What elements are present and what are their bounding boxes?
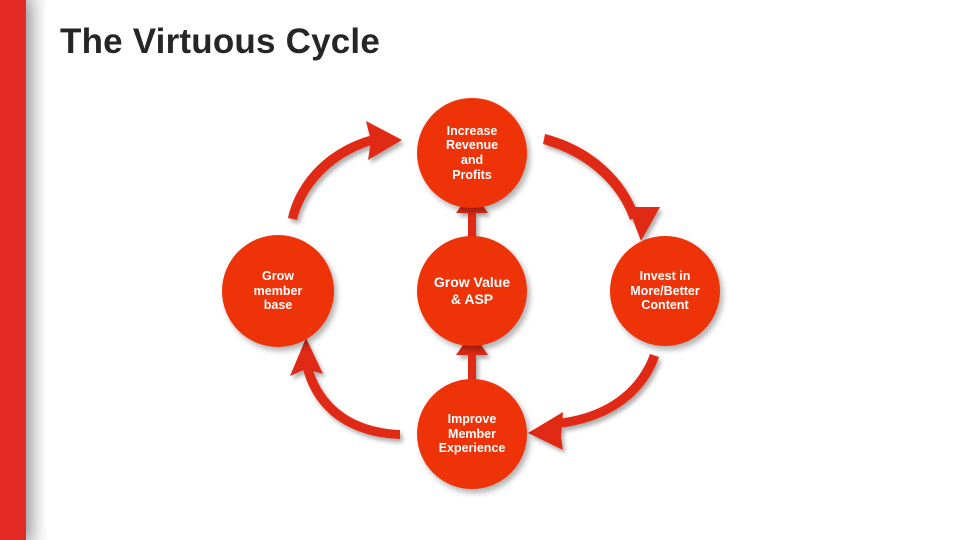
arrow-grow-member-base-to-increase-revenue xyxy=(288,121,402,220)
page-title: The Virtuous Cycle xyxy=(60,22,380,62)
left-accent-bar xyxy=(0,0,26,540)
node-improve-experience-label: Improve Member Experience xyxy=(433,412,512,456)
node-grow-value[interactable]: Grow Value & ASP xyxy=(417,236,527,346)
slide-canvas: The Virtuous Cycle xyxy=(0,0,960,540)
node-invest-content[interactable]: Invest in More/Better Content xyxy=(610,236,720,346)
node-invest-content-label: Invest in More/Better Content xyxy=(624,269,705,313)
node-grow-member-base-label: Grow member base xyxy=(248,269,309,313)
node-increase-revenue[interactable]: Increase Revenue and Profits xyxy=(417,98,527,208)
node-grow-value-label: Grow Value & ASP xyxy=(428,274,516,307)
node-increase-revenue-label: Increase Revenue and Profits xyxy=(440,124,504,183)
node-grow-member-base[interactable]: Grow member base xyxy=(222,235,334,347)
arrow-increase-revenue-to-invest-content xyxy=(543,134,660,241)
accent-bar-shadow xyxy=(26,0,48,540)
arrow-improve-experience-to-grow-member-base xyxy=(290,338,400,439)
node-improve-experience[interactable]: Improve Member Experience xyxy=(417,379,527,489)
arrow-invest-content-to-improve-experience xyxy=(528,354,659,450)
